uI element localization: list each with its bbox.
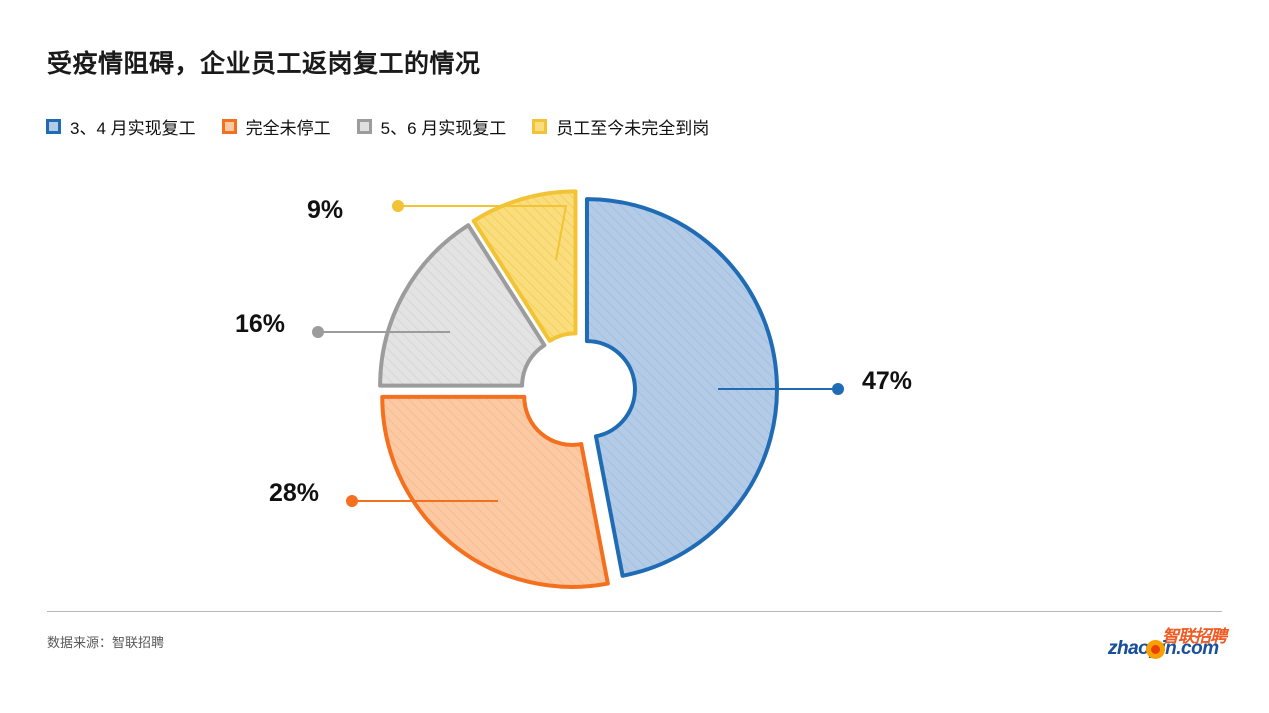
legend-item-2[interactable]: 5、6 月实现复工 <box>357 114 507 139</box>
footer-divider <box>47 611 1222 612</box>
slice-value-label-2: 16% <box>235 310 285 338</box>
page-title: 受疫情阻碍，企业员工返岗复工的情况 <box>47 44 481 80</box>
legend-label-3: 员工至今未完全到岗 <box>556 114 709 139</box>
square-swatch-icon <box>357 119 372 134</box>
legend-item-1[interactable]: 完全未停工 <box>222 114 331 139</box>
leader-dot-0 <box>832 383 844 395</box>
logo-english-prefix: zha <box>1108 638 1138 660</box>
square-swatch-icon <box>222 119 237 134</box>
chart-legend: 3、4 月实现复工 完全未停工 5、6 月实现复工 员工至今未完全到岗 <box>46 114 709 139</box>
zhaopin-logo: 智联招聘 zhaopin.com zha <box>1108 622 1226 664</box>
legend-label-2: 5、6 月实现复工 <box>381 114 507 139</box>
square-swatch-icon <box>46 119 61 134</box>
slice-value-label-3: 9% <box>307 196 343 224</box>
legend-label-1: 完全未停工 <box>246 114 331 139</box>
slice-value-label-0: 47% <box>862 367 912 395</box>
doughnut-chart-svg: 47% 28% 16% 9% <box>0 150 1269 600</box>
doughnut-chart: 47% 28% 16% 9% <box>0 150 1269 600</box>
legend-label-0: 3、4 月实现复工 <box>70 114 196 139</box>
legend-item-3[interactable]: 员工至今未完全到岗 <box>532 114 709 139</box>
square-swatch-icon <box>532 119 547 134</box>
logo-circle-inner-icon <box>1151 645 1160 654</box>
slide-root: 受疫情阻碍，企业员工返岗复工的情况 3、4 月实现复工 完全未停工 5、6 月实… <box>0 0 1269 713</box>
leader-dot-3 <box>392 200 404 212</box>
doughnut-slice-1[interactable] <box>382 397 608 587</box>
leader-dot-1 <box>346 495 358 507</box>
doughnut-slices <box>380 191 777 587</box>
leader-dot-2 <box>312 326 324 338</box>
legend-item-0[interactable]: 3、4 月实现复工 <box>46 114 196 139</box>
data-source-text: 数据来源：智联招聘 <box>47 632 164 651</box>
doughnut-slice-0[interactable] <box>587 199 777 576</box>
slice-value-label-1: 28% <box>269 479 319 507</box>
